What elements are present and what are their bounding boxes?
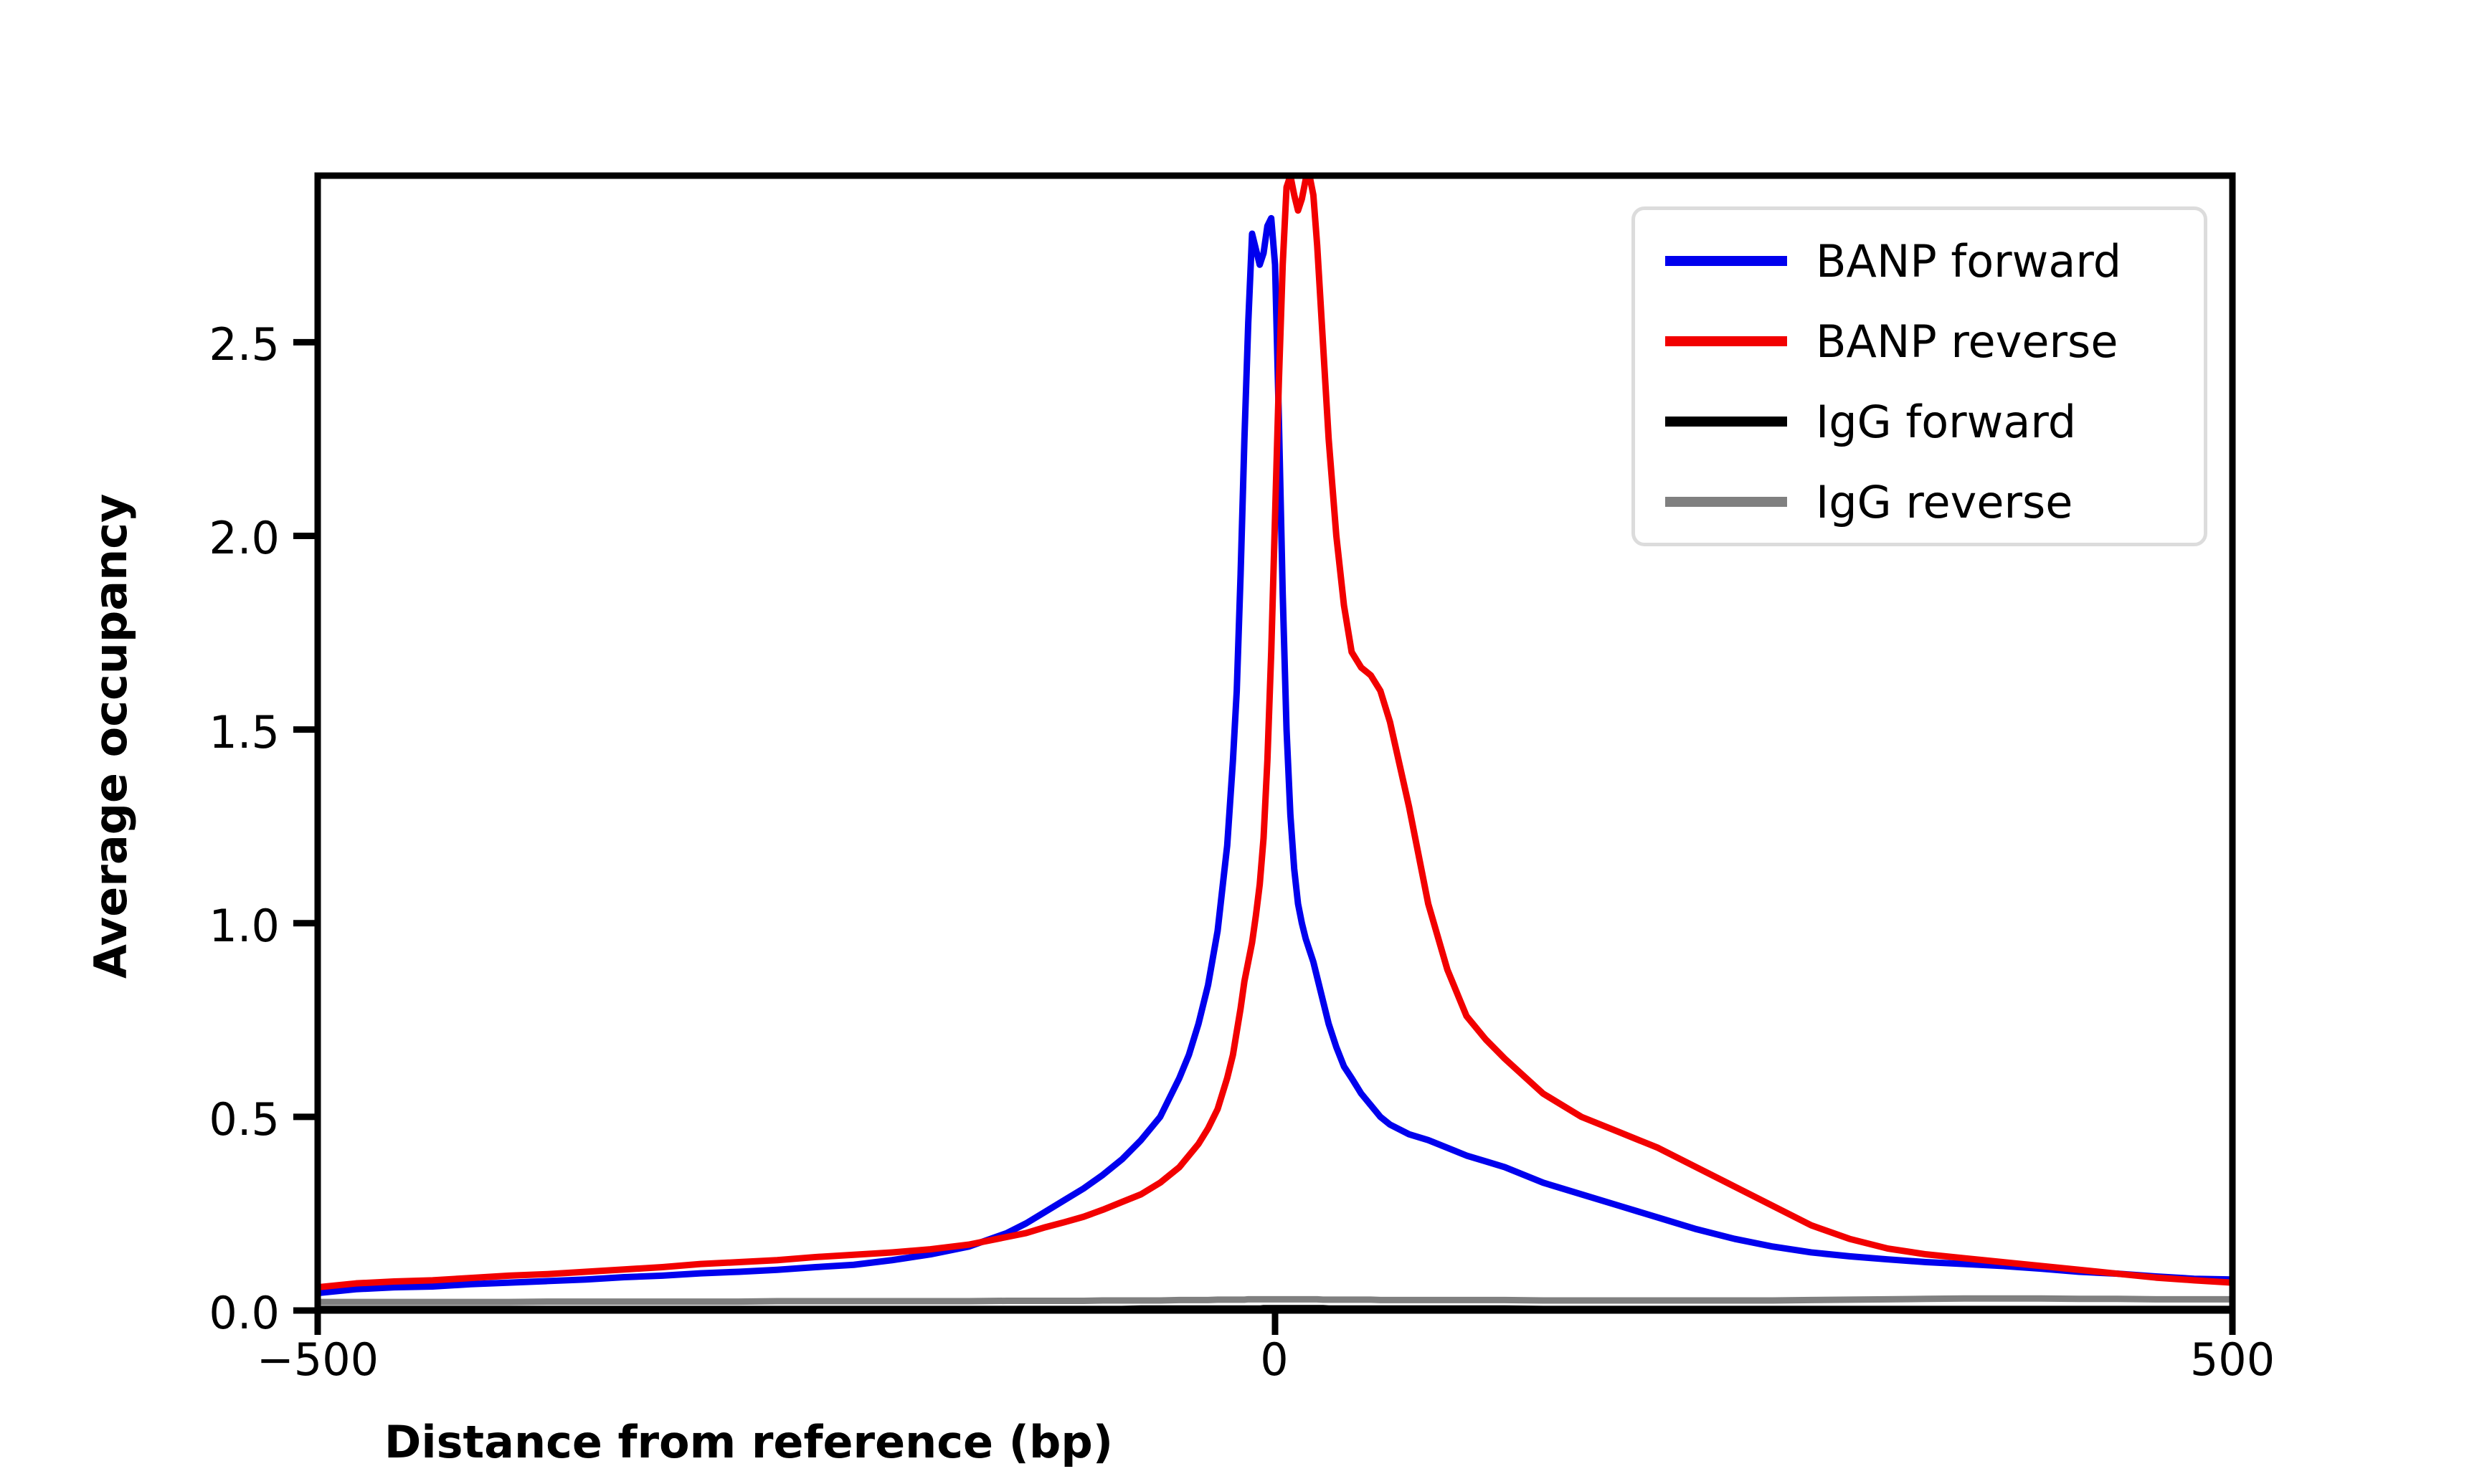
legend-swatch-banp-reverse: [1665, 336, 1787, 346]
legend-swatch-igg-forward: [1665, 417, 1787, 427]
x-axis-label: Distance from reference (bp): [384, 1416, 1113, 1468]
x-axis-label-wrapper: Distance from reference (bp): [0, 1416, 2487, 1468]
legend: BANP forward BANP reverse IgG forward Ig…: [1631, 206, 2207, 546]
ytick-label-2: 1.0: [136, 900, 280, 952]
legend-label-igg-reverse: IgG reverse: [1816, 476, 2072, 528]
series-line-igg-reverse: [318, 1298, 2232, 1302]
ytick-label-3: 1.5: [136, 706, 280, 758]
legend-swatch-banp-forward: [1665, 256, 1787, 266]
legend-label-banp-reverse: BANP reverse: [1816, 315, 2118, 368]
legend-label-banp-forward: BANP forward: [1816, 235, 2121, 287]
xtick-label-2: 500: [2125, 1333, 2340, 1386]
legend-item-igg-forward[interactable]: IgG forward: [1635, 382, 2204, 461]
xtick-label-1: 0: [1167, 1333, 1382, 1386]
legend-item-banp-reverse[interactable]: BANP reverse: [1635, 302, 2204, 381]
legend-item-banp-forward[interactable]: BANP forward: [1635, 222, 2204, 300]
legend-label-igg-forward: IgG forward: [1816, 396, 2076, 448]
ytick-label-5: 2.5: [136, 318, 280, 371]
ytick-label-0: 0.0: [136, 1287, 280, 1339]
xtick-label-0: −500: [210, 1333, 425, 1386]
legend-swatch-igg-reverse: [1665, 497, 1787, 507]
figure-canvas: 0.0 0.5 1.0 1.5 2.0 2.5 −500 0 500 Avera…: [0, 0, 2487, 1484]
ytick-label-1: 0.5: [136, 1093, 280, 1146]
y-axis-label: Average occupancy: [85, 494, 137, 979]
ytick-label-4: 2.0: [136, 512, 280, 564]
legend-item-igg-reverse[interactable]: IgG reverse: [1635, 462, 2204, 541]
